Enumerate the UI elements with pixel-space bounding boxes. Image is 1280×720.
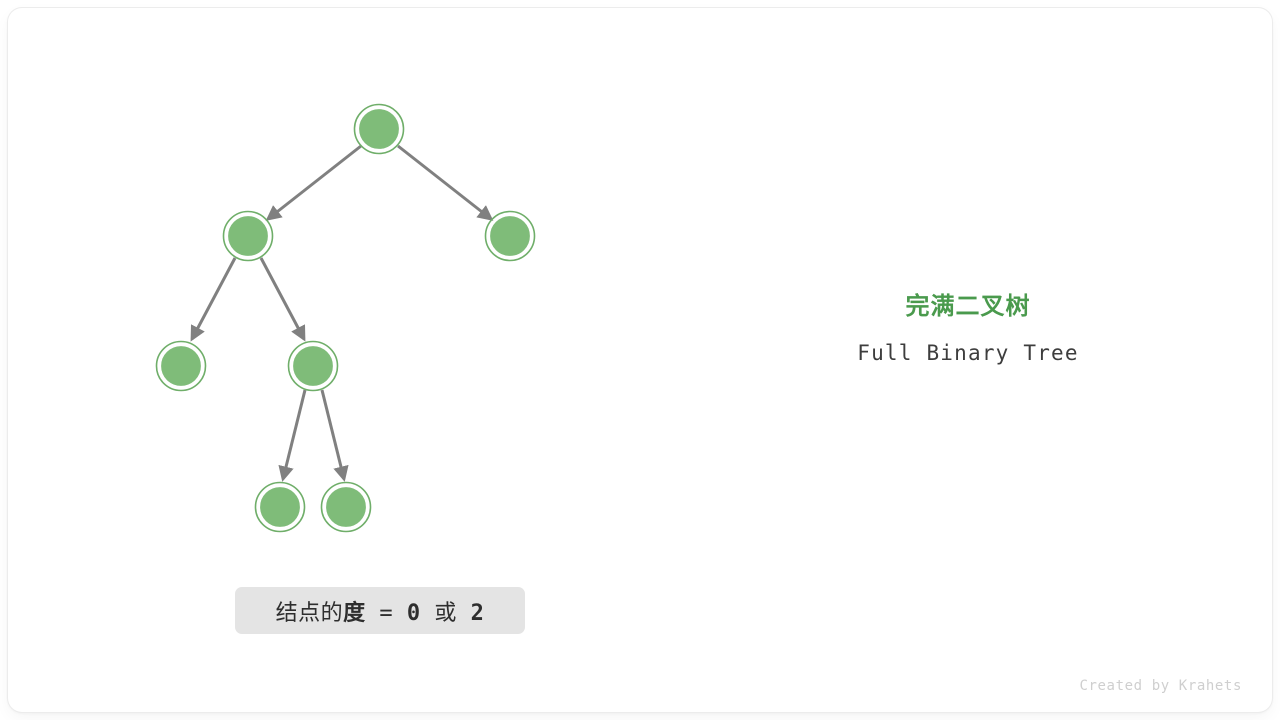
tree-edge-lr-left xyxy=(283,390,305,479)
tree-node-left-right[interactable] xyxy=(289,342,338,391)
tree-node-root[interactable] xyxy=(355,105,404,154)
tree-edge-group xyxy=(192,146,491,479)
caption-part-or: 或 xyxy=(421,601,471,626)
tree-node-right[interactable] xyxy=(486,212,535,261)
tree-node-left[interactable] xyxy=(224,212,273,261)
caption-part-bold-two: 2 xyxy=(471,601,485,626)
tree-node-group xyxy=(157,105,535,532)
caption-part-bold-degree: 度 xyxy=(343,601,366,626)
legend-block: 完满二叉树 Full Binary Tree xyxy=(768,292,1168,365)
tree-edge-root-right xyxy=(398,146,491,219)
legend-title-zh: 完满二叉树 xyxy=(768,292,1168,322)
caption-text: 结点的度 = 0 或 2 xyxy=(276,595,485,627)
watermark-credit: Created by Krahets xyxy=(1079,678,1242,694)
caption-part-equals: = xyxy=(366,601,407,626)
legend-title-en: Full Binary Tree xyxy=(768,341,1168,365)
tree-node-left-left[interactable] xyxy=(157,342,206,391)
tree-node-left-right-right[interactable] xyxy=(322,483,371,532)
tree-edge-lr-right xyxy=(322,390,344,479)
tree-node-left-right-left[interactable] xyxy=(256,483,305,532)
tree-edge-root-left xyxy=(268,146,361,219)
caption-chip: 结点的度 = 0 或 2 xyxy=(235,587,525,634)
caption-part-bold-zero: 0 xyxy=(407,601,421,626)
tree-edge-l-right xyxy=(261,258,304,339)
tree-edge-l-left xyxy=(192,258,235,339)
caption-part-plain-1: 结点的 xyxy=(276,601,344,626)
figure-canvas: 完满二叉树 Full Binary Tree 结点的度 = 0 或 2 Crea… xyxy=(0,0,1280,720)
